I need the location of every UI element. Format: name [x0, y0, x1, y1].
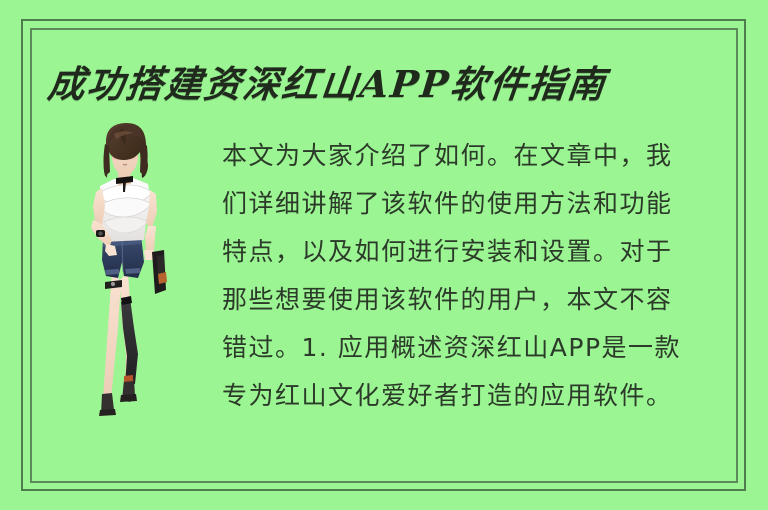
- body-line: 特点，以及如何进行安装和设置。对于: [222, 228, 734, 276]
- anime-girl-illustration: [78, 122, 174, 418]
- body-line: 那些想要使用该软件的用户，本文不容: [222, 276, 734, 324]
- page-title: 成功搭建资深红山APP软件指南: [45, 58, 650, 110]
- poster-canvas: 成功搭建资深红山APP软件指南: [0, 0, 768, 510]
- body-line: 本文为大家介绍了如何。在文章中，我: [222, 132, 734, 180]
- article-body: 本文为大家介绍了如何。在文章中，我 们详细讲解了该软件的使用方法和功能 特点，以…: [222, 132, 734, 420]
- body-line: 错过。1. 应用概述资深红山APP是一款: [222, 324, 734, 372]
- body-line: 们详细讲解了该软件的使用方法和功能: [222, 180, 734, 228]
- body-line: 专为红山文化爱好者打造的应用软件。: [222, 372, 734, 420]
